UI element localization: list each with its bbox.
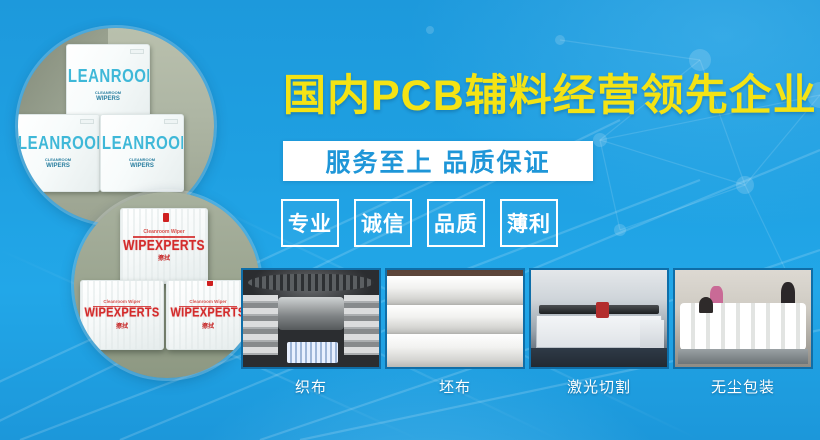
worker-figure <box>699 297 713 313</box>
pack-brand-label: WIPEXPERTS <box>123 238 205 252</box>
pack-brand-label: CLEANROOM <box>66 67 150 86</box>
pack-red-tag <box>207 280 213 286</box>
feature-badge-label: 薄利 <box>507 208 551 238</box>
thumbnail-caption: 无尘包装 <box>673 376 813 397</box>
thumbnail-image-greige-cloth[interactable] <box>385 268 525 369</box>
feature-badge-pinzhi[interactable]: 品质 <box>427 199 485 247</box>
pack-sub-label-1: CLEANROOM <box>95 91 121 95</box>
product-pack: CLEANROOM CLEANROOM WIPERS <box>100 114 184 192</box>
fabric-roll <box>385 334 525 367</box>
wipexperts-wipes-photo: Cleanroom Wiper WIPEXPERTS 擦拭 Cleanroom … <box>74 192 260 378</box>
machine-head <box>278 297 343 330</box>
fabric-rolls-art <box>387 270 523 367</box>
thumbnail-image-weaving[interactable] <box>241 268 381 369</box>
pack-sub-label: Cleanroom Wiper <box>143 230 184 235</box>
machine-base <box>531 348 667 367</box>
fabric-roll <box>385 305 525 334</box>
laser-head <box>596 302 608 318</box>
process-thumbnail-laser-cutting[interactable]: 激光切割 <box>529 268 669 397</box>
yarn-spools-left <box>243 295 278 355</box>
pack-corner-tab <box>80 119 94 124</box>
process-thumbnail-cleanroom-packaging[interactable]: 无尘包装 <box>673 268 813 397</box>
thumbnail-caption: 激光切割 <box>529 376 669 397</box>
process-thumbnail-greige-cloth[interactable]: 坯布 <box>385 268 525 397</box>
product-pack: Cleanroom Wiper WIPEXPERTS 擦拭 <box>166 280 250 350</box>
banner-headline: 国内PCB辅料经营领先企业 <box>283 75 817 118</box>
pack-sub-label: Cleanroom Wiper <box>189 300 226 305</box>
product-pack: Cleanroom Wiper WIPEXPERTS 擦拭 <box>80 280 164 350</box>
pack-mark-label: 擦拭 <box>202 324 214 330</box>
feature-badge-baoli[interactable]: 薄利 <box>500 199 558 247</box>
pack-sub-label-2: WIPERS <box>130 163 154 170</box>
yarn-spools-right <box>344 295 379 355</box>
pack-sub-label-1: CLEANROOM <box>45 158 71 162</box>
process-thumbnail-weaving[interactable]: 织布 <box>241 268 381 397</box>
thumbnail-image-laser-cutting[interactable] <box>529 268 669 369</box>
pack-corner-tab <box>164 119 178 124</box>
fabric-output <box>287 342 339 363</box>
pack-sub-label-2: WIPERS <box>96 96 120 103</box>
feature-badge-label: 品质 <box>434 208 478 238</box>
pack-brand-label: WIPEXPERTS <box>170 307 245 320</box>
pack-corner-tab <box>130 49 144 54</box>
pack-mark-label: 擦拭 <box>158 256 170 262</box>
pack-red-tag <box>163 213 169 222</box>
pack-sub-label-1: CLEANROOM <box>129 158 155 162</box>
process-thumbnail-list: 织布 坯布 激光切割 <box>241 268 813 397</box>
feature-badge-list: 专业 诚信 品质 薄利 <box>281 199 558 247</box>
cleanroom-packaging-art <box>675 270 811 367</box>
thumbnail-image-cleanroom-packaging[interactable] <box>673 268 813 369</box>
feature-badge-label: 专业 <box>288 208 332 238</box>
pack-sub-label: Cleanroom Wiper <box>103 300 140 305</box>
pack-brand-label: CLEANROOM <box>18 134 100 153</box>
feature-badge-zhuanye[interactable]: 专业 <box>281 199 339 247</box>
banner-subtitle-bar: 服务至上 品质保证 <box>283 141 593 181</box>
work-table <box>678 349 809 365</box>
product-pack: Cleanroom Wiper WIPEXPERTS 擦拭 <box>120 208 208 284</box>
pack-mark-label: 擦拭 <box>116 324 128 330</box>
feature-badge-label: 诚信 <box>361 208 405 238</box>
pack-brand-label: CLEANROOM <box>100 134 184 153</box>
fabric-roll <box>385 276 525 305</box>
promo-banner: CLEANROOM CLEANROOM WIPERS CLEANROOM CLE… <box>0 0 820 440</box>
pack-brand-label: WIPEXPERTS <box>84 307 159 320</box>
laser-cutting-machine-art <box>531 270 667 367</box>
machine-top-ring <box>248 274 373 291</box>
pack-sub-label-2: WIPERS <box>46 163 70 170</box>
thumbnail-caption: 织布 <box>241 376 381 397</box>
worker-figure <box>781 282 795 305</box>
thumbnail-caption: 坯布 <box>385 376 525 397</box>
product-pack: CLEANROOM CLEANROOM WIPERS <box>18 114 100 192</box>
feature-badge-chengxin[interactable]: 诚信 <box>354 199 412 247</box>
knitting-machine-art <box>243 270 379 367</box>
banner-subtitle-text: 服务至上 品质保证 <box>326 143 551 179</box>
